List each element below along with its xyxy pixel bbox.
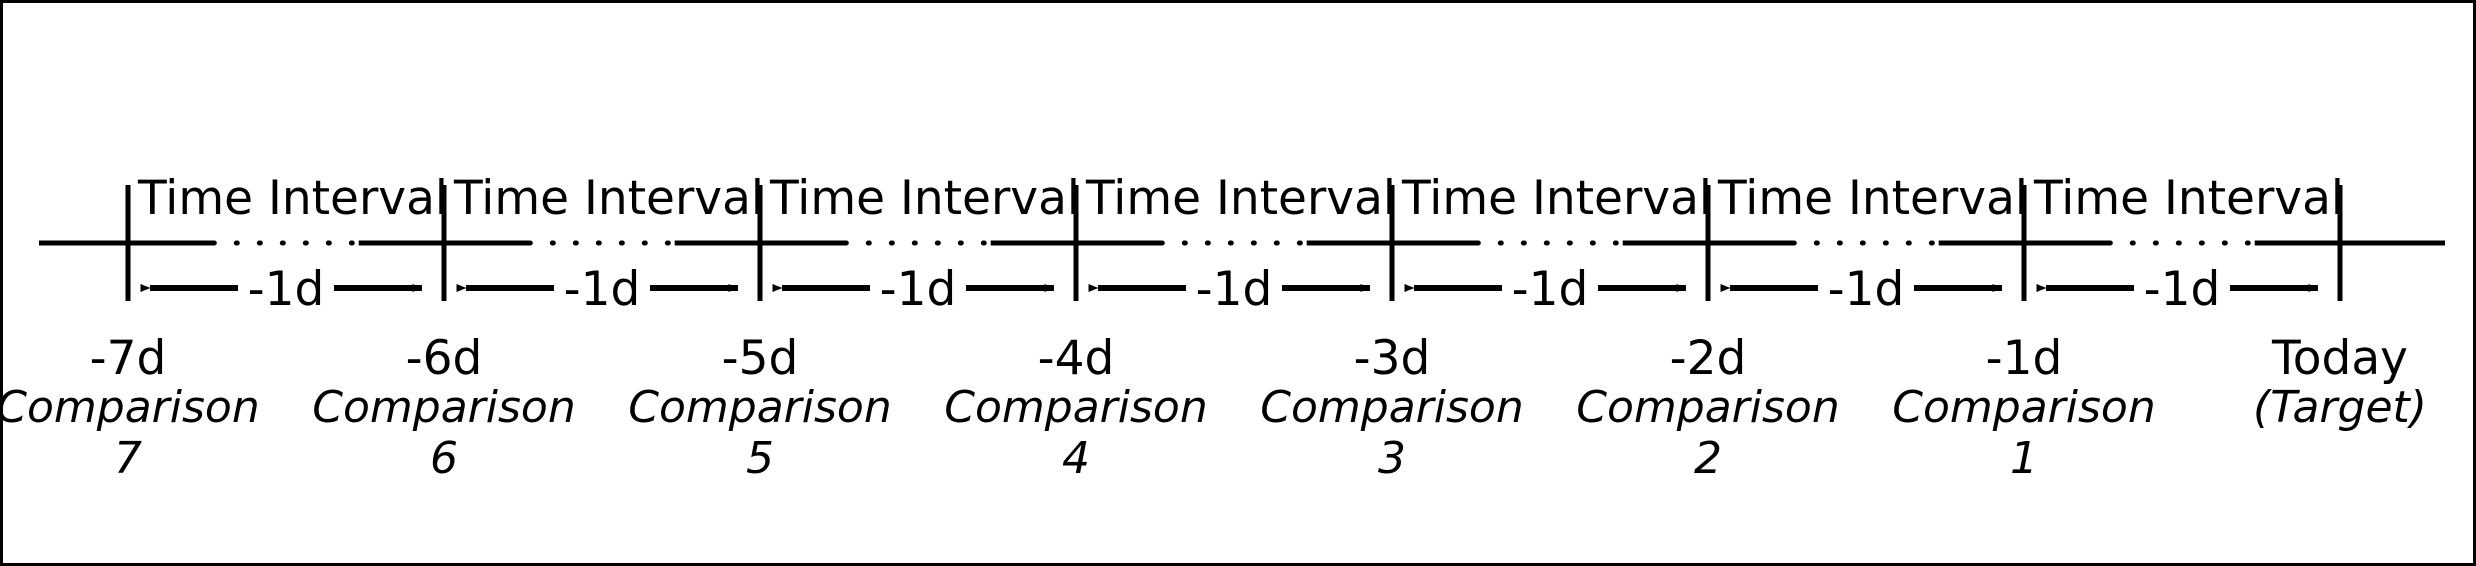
step-label-5: -1d (1828, 266, 1905, 313)
interval-label-1: Time Interval (454, 175, 764, 222)
tick-label-1: -6d (406, 335, 483, 382)
step-label-6: -1d (2144, 266, 2221, 313)
comparison-role-0: Comparison (0, 386, 260, 430)
tick-label-3: -4d (1038, 335, 1115, 382)
comparison-role-4: Comparison (1260, 386, 1523, 430)
tick-label-2: -5d (722, 335, 799, 382)
comparison-role-5: Comparison (1576, 386, 1839, 430)
step-label-3: -1d (1196, 266, 1273, 313)
tick-label-4: -3d (1354, 335, 1431, 382)
comparison-role-2: Comparison (628, 386, 891, 430)
comparison-index-4: 3 (1378, 437, 1406, 481)
step-label-2: -1d (880, 266, 957, 313)
comparison-role-6: Comparison (1892, 386, 2155, 430)
tick-label-0: -7d (90, 335, 167, 382)
step-label-0: -1d (248, 266, 325, 313)
interval-label-6: Time Interval (2034, 175, 2344, 222)
comparison-index-5: 2 (1694, 437, 1722, 481)
comparison-index-6: 1 (2010, 437, 2038, 481)
step-label-4: -1d (1512, 266, 1589, 313)
comparison-index-1: 6 (430, 437, 458, 481)
comparison-index-3: 4 (1062, 437, 1090, 481)
interval-label-3: Time Interval (1086, 175, 1396, 222)
comparison-role-7: (Target) (2253, 386, 2427, 430)
comparison-role-3: Comparison (944, 386, 1207, 430)
step-label-1: -1d (564, 266, 641, 313)
comparison-index-2: 5 (746, 437, 774, 481)
tick-label-6: -1d (1986, 335, 2063, 382)
interval-label-5: Time Interval (1718, 175, 2028, 222)
comparison-role-1: Comparison (312, 386, 575, 430)
interval-label-4: Time Interval (1402, 175, 1712, 222)
interval-label-2: Time Interval (770, 175, 1080, 222)
tick-label-5: -2d (1670, 335, 1747, 382)
comparison-index-0: 7 (114, 437, 142, 481)
timeline-diagram: Time IntervalTime IntervalTime IntervalT… (0, 0, 2476, 566)
tick-label-7: Today (2272, 335, 2408, 382)
interval-label-0: Time Interval (138, 175, 448, 222)
